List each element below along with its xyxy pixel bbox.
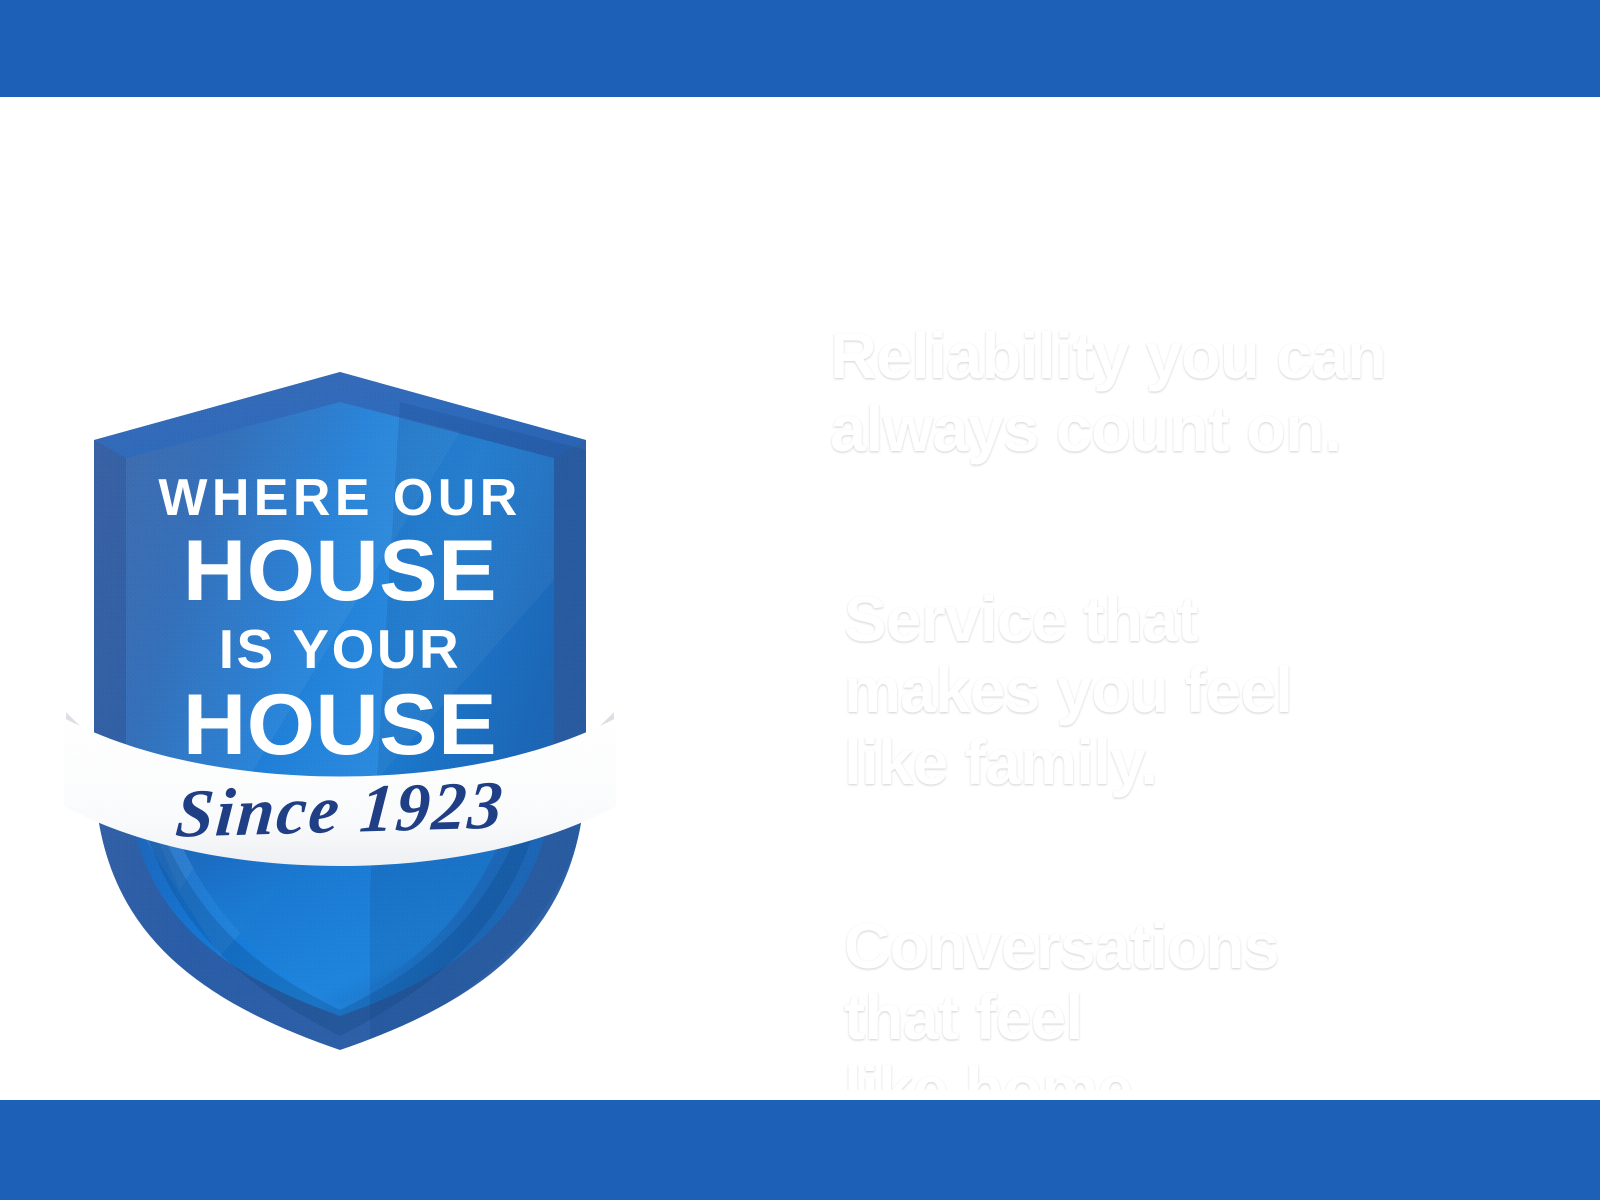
list-item-text: Conversations that feel like home. xyxy=(844,911,1279,1090)
list-item: Service that makes you feel like family. xyxy=(660,584,1540,799)
top-accent-bar xyxy=(0,0,1600,97)
shield-emblem: WHERE OUR HOUSE IS YOUR HOUSE Since 1923 xyxy=(40,250,640,1070)
checkmark-icon xyxy=(660,320,796,430)
main-panel: WHERE OUR HOUSE IS YOUR HOUSE Since 1923… xyxy=(0,110,1600,1090)
list-item: Conversations that feel like home. xyxy=(660,911,1540,1090)
bottom-accent-bar xyxy=(0,1100,1600,1200)
list-item-text: Reliability you can always count on. xyxy=(830,320,1386,466)
list-item-text: Service that makes you feel like family. xyxy=(844,584,1292,799)
promo-banner: WHERE OUR HOUSE IS YOUR HOUSE Since 1923… xyxy=(0,0,1600,1200)
list-item: Reliability you can always count on. xyxy=(660,320,1540,466)
benefits-list: Reliability you can always count on. Ser… xyxy=(660,310,1540,1090)
checkmark-icon xyxy=(660,584,796,694)
checkmark-icon xyxy=(660,911,796,1021)
